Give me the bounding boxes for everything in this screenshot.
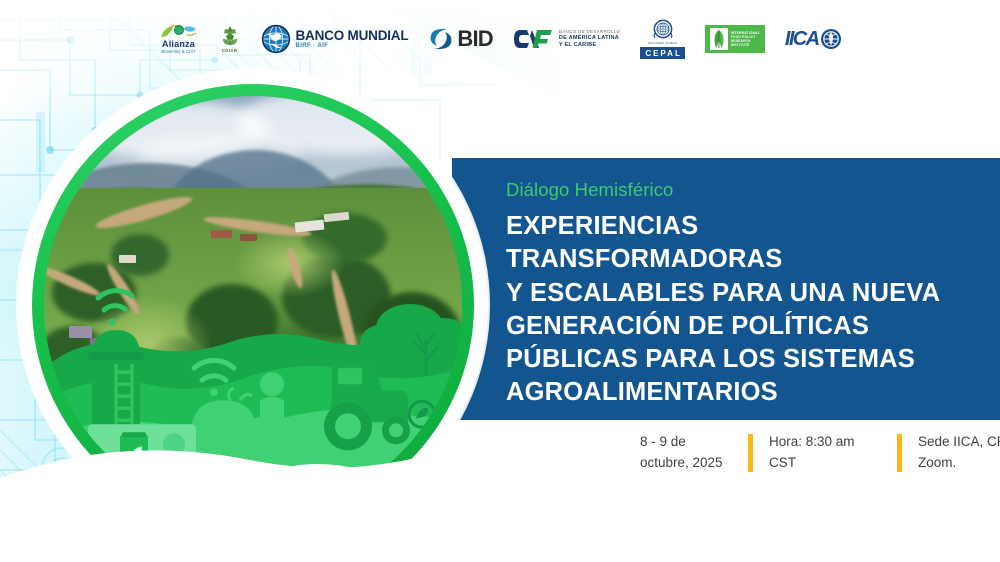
info-date: 8 - 9 de octubre, 2025 — [640, 432, 732, 474]
headline-line-5: AGROALIMENTARIOS — [506, 376, 972, 409]
event-kicker: Diálogo Hemisférico — [506, 180, 972, 200]
logo-bid: BID — [428, 26, 493, 52]
cgiar-icon — [219, 25, 241, 47]
banco-mundial-sub: BIRF · AIF — [296, 43, 409, 49]
bid-swirl-icon — [428, 26, 454, 52]
caf-line3: Y EL CARIBE — [559, 42, 620, 49]
headline-panel: Diálogo Hemisférico EXPERIENCIAS TRANSFO… — [452, 158, 1000, 420]
headline-line-1: EXPERIENCIAS TRANSFORMADORAS — [506, 210, 972, 276]
poster-canvas: Alianza Bioversity & CIAT CGIAR — [0, 0, 1000, 562]
world-bank-globe-icon — [261, 24, 291, 54]
headline-line-4: PÚBLICAS PARA LOS SISTEMAS — [506, 343, 972, 376]
logo-cgiar: CGIAR — [219, 25, 241, 53]
event-headline: EXPERIENCIAS TRANSFORMADORAS Y ESCALABLE… — [506, 210, 972, 409]
info-venue: Sede IICA, CR. Zoom. — [918, 432, 1000, 474]
logo-alianza-bioversity-ciat: Alianza Bioversity & CIAT — [159, 24, 199, 54]
info-divider — [897, 434, 902, 472]
alianza-icon — [159, 24, 199, 39]
event-info-bar: 8 - 9 de octubre, 2025 Hora: 8:30 am CST… — [640, 432, 1000, 474]
cgiar-name: CGIAR — [222, 48, 238, 53]
logo-ifpri: INTERNATIONAL FOOD POLICY RESEARCH INSTI… — [705, 25, 765, 53]
alianza-tagline: Bioversity & CIAT — [161, 50, 195, 54]
logo-iica: IICA — [785, 28, 842, 51]
iica-name: IICA — [785, 28, 819, 51]
alianza-name: Alianza — [162, 40, 195, 49]
photo-building — [119, 255, 136, 263]
photo-building — [240, 234, 257, 242]
ifpri-leaf-icon — [710, 28, 728, 50]
info-venue-text: Sede IICA, CR. Zoom. — [918, 432, 1000, 474]
logo-banco-mundial: BANCO MUNDIAL BIRF · AIF — [261, 24, 409, 54]
caf-line1: BANCO DE DESARROLLO — [559, 29, 620, 35]
bid-name: BID — [457, 26, 493, 52]
banco-mundial-name: BANCO MUNDIAL — [296, 29, 409, 43]
logo-cepal: NACIONES UNIDAS CEPAL — [640, 19, 685, 59]
partner-logo-strip: Alianza Bioversity & CIAT CGIAR — [0, 16, 1000, 62]
caf-mark-icon — [513, 27, 553, 51]
cepal-name: CEPAL — [640, 47, 685, 59]
trees-icon — [360, 304, 462, 360]
united-nations-emblem-icon — [652, 19, 674, 39]
wifi-signal-icon — [98, 290, 132, 325]
cepal-sub: NACIONES UNIDAS — [648, 41, 677, 45]
headline-line-3: GENERACIÓN DE POLÍTICAS — [506, 310, 972, 343]
iica-globe-icon — [820, 28, 842, 50]
info-date-text: 8 - 9 de octubre, 2025 — [640, 432, 732, 474]
logo-caf: BANCO DE DESARROLLO DE AMÉRICA LATINA Y … — [513, 27, 620, 51]
headline-line-2: Y ESCALABLES PARA UNA NUEVA — [506, 277, 972, 310]
caf-line2: DE AMÉRICA LATINA — [559, 35, 620, 42]
ifpri-line4: INSTITUTE — [731, 43, 760, 47]
bottom-white-swoosh — [0, 382, 560, 562]
info-divider — [748, 434, 753, 472]
photo-building — [211, 230, 232, 238]
info-time-text: Hora: 8:30 am CST — [769, 432, 881, 474]
info-time: Hora: 8:30 am CST — [769, 432, 881, 474]
